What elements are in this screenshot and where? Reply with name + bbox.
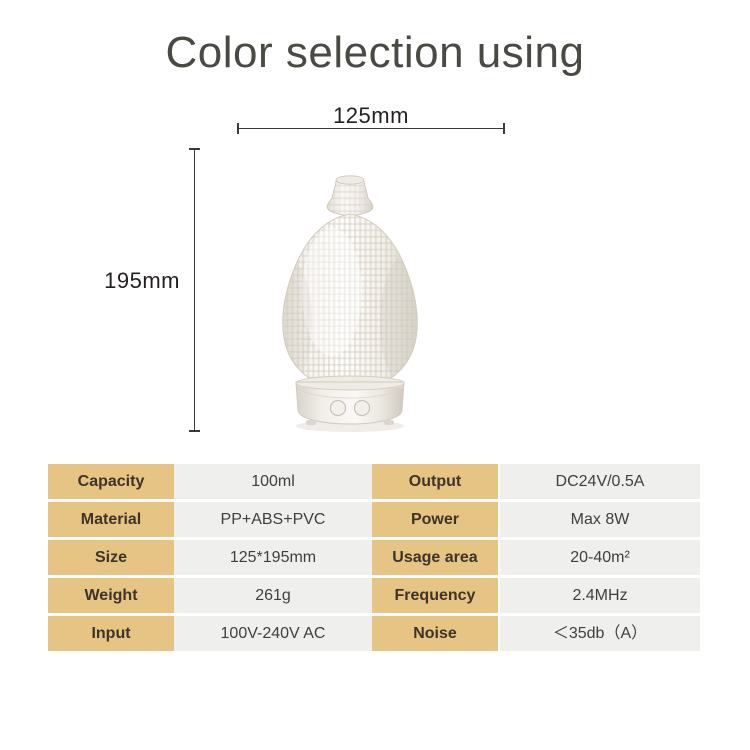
product-neck — [320, 172, 380, 220]
product-base — [290, 376, 410, 425]
spec-value-input: 100V-240V AC — [174, 616, 372, 651]
product-body — [268, 210, 440, 396]
height-dimension-line — [194, 148, 195, 432]
spec-label-usage-area: Usage area — [372, 540, 498, 575]
height-dimension-label: 195mm — [60, 268, 180, 294]
spec-label-power: Power — [372, 502, 498, 537]
spec-value-weight: 261g — [174, 578, 372, 613]
spec-label-weight: Weight — [48, 578, 174, 613]
spec-label-output: Output — [372, 464, 498, 499]
spec-label-frequency: Frequency — [372, 578, 498, 613]
spec-label-material: Material — [48, 502, 174, 537]
spec-label-input: Input — [48, 616, 174, 651]
width-dimension-line — [237, 128, 505, 129]
spec-label-capacity: Capacity — [48, 464, 174, 499]
spec-value-frequency: 2.4MHz — [498, 578, 700, 613]
spec-value-size: 125*195mm — [174, 540, 372, 575]
product-light-button — [355, 401, 370, 416]
spec-label-noise: Noise — [372, 616, 498, 651]
spec-value-material: PP+ABS+PVC — [174, 502, 372, 537]
spec-label-size: Size — [48, 540, 174, 575]
page-title: Color selection using — [0, 28, 750, 78]
product-image — [250, 172, 450, 434]
spec-value-power: Max 8W — [498, 502, 700, 537]
spec-value-usage-area: 20-40m² — [498, 540, 700, 575]
width-dimension-label: 125mm — [237, 103, 505, 129]
specification-table: Capacity 100ml Output DC24V/0.5A Materia… — [48, 464, 700, 651]
product-spec-page: Color selection using 125mm 195mm — [0, 0, 750, 750]
spec-value-output: DC24V/0.5A — [498, 464, 700, 499]
product-power-button — [331, 401, 346, 416]
spec-value-capacity: 100ml — [174, 464, 372, 499]
spec-value-noise: ＜35db（A） — [498, 616, 700, 651]
